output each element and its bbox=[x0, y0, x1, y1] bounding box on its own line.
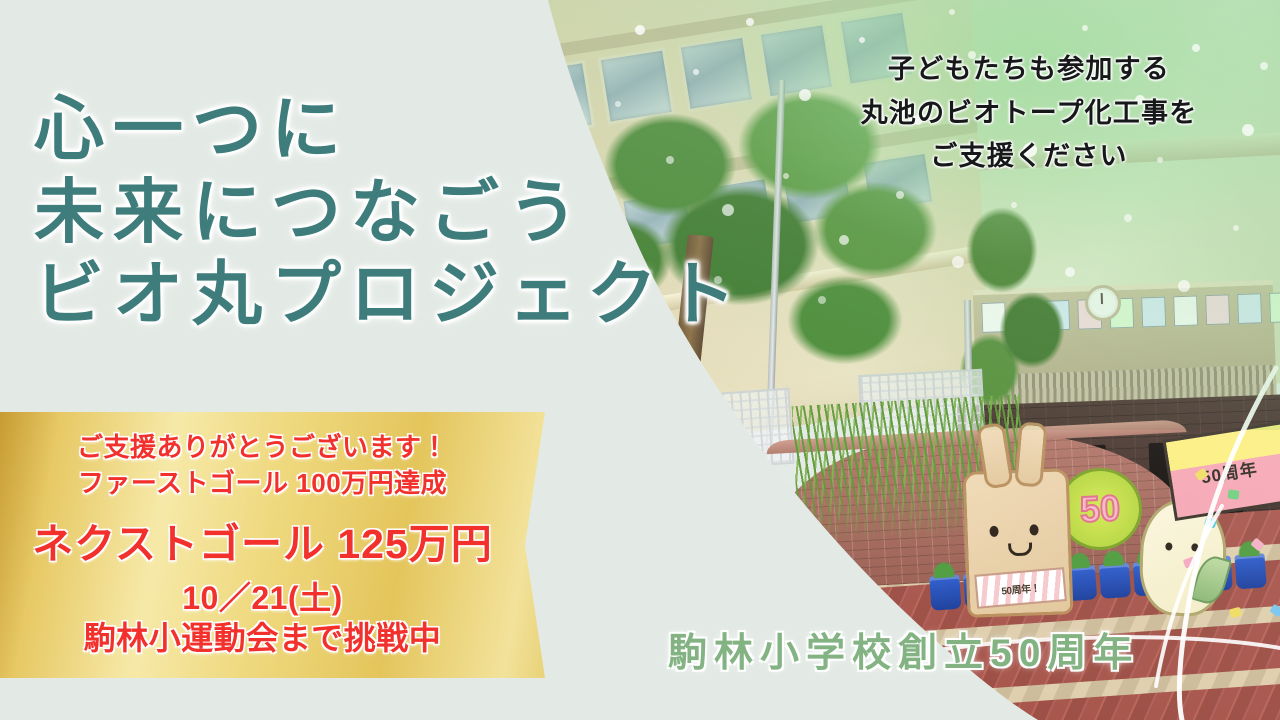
ribbon-thanks-line-2: ファーストゴール 100万円達成 bbox=[0, 466, 525, 502]
lead-line-1: 子どもたちも参加する bbox=[814, 48, 1244, 92]
ribbon-date-block: 10／21(土) 駒林小運動会まで挑戦中 bbox=[0, 564, 525, 659]
page-title: 心一つに 未来につなごう ビオ丸プロジェクト bbox=[34, 88, 914, 336]
ribbon-next-goal: ネクストゴール 125万円 bbox=[0, 500, 525, 570]
headline-line-2: 未来につなごう bbox=[34, 171, 914, 254]
ribbon-date-line-1: 10／21(土) bbox=[0, 578, 525, 618]
poster-canvas: 50 50周年！ 50周年 bbox=[0, 0, 1280, 720]
goal-ribbon-banner: ご支援ありがとうございます！ ファーストゴール 100万円達成 ネクストゴール … bbox=[0, 412, 640, 678]
lead-copy: 子どもたちも参加する 丸池のビオトープ化工事を ご支援ください bbox=[814, 48, 1244, 179]
anniversary-caption: 駒林小学校創立50周年 bbox=[668, 622, 1139, 678]
ribbon-thanks-block: ご支援ありがとうございます！ ファーストゴール 100万円達成 bbox=[0, 412, 525, 502]
lead-line-2: 丸池のビオトープ化工事を bbox=[814, 92, 1244, 136]
ribbon-thanks-line-1: ご支援ありがとうございます！ bbox=[0, 430, 525, 466]
headline-line-3: ビオ丸プロジェクト bbox=[34, 253, 914, 336]
ribbon-date-line-2: 駒林小運動会まで挑戦中 bbox=[0, 618, 525, 658]
lead-line-3: ご支援ください bbox=[814, 135, 1244, 179]
headline-line-1: 心一つに bbox=[34, 88, 914, 171]
